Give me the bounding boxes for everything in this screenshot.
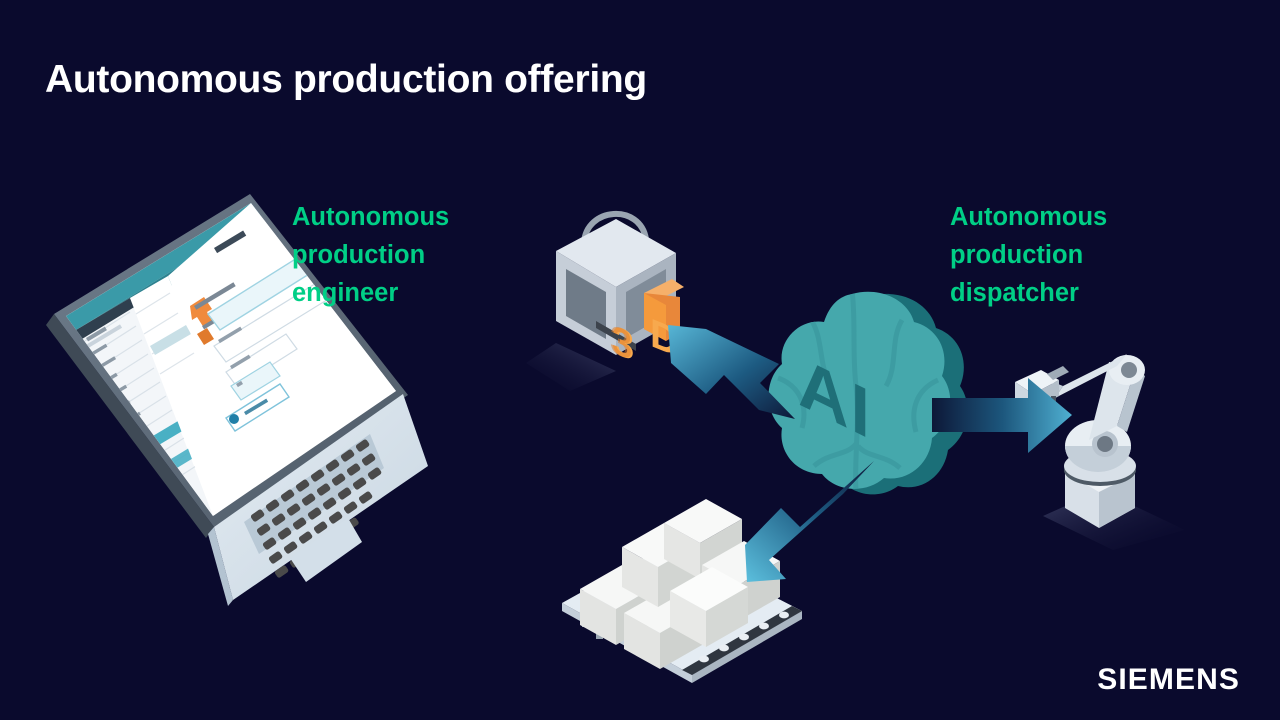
label-autonomous-production-engineer: Autonomous production engineer [292, 198, 449, 312]
brain-to-printer-arrow [668, 325, 795, 419]
brain-to-conveyor-arrow [745, 461, 874, 582]
brain-to-robot-arrow [932, 378, 1072, 453]
slide-canvas: Autonomous production offering [0, 0, 1280, 720]
label-autonomous-production-dispatcher: Autonomous production dispatcher [950, 198, 1107, 312]
siemens-logo: SIEMENS [1097, 663, 1240, 697]
flow-arrows [0, 0, 1280, 720]
